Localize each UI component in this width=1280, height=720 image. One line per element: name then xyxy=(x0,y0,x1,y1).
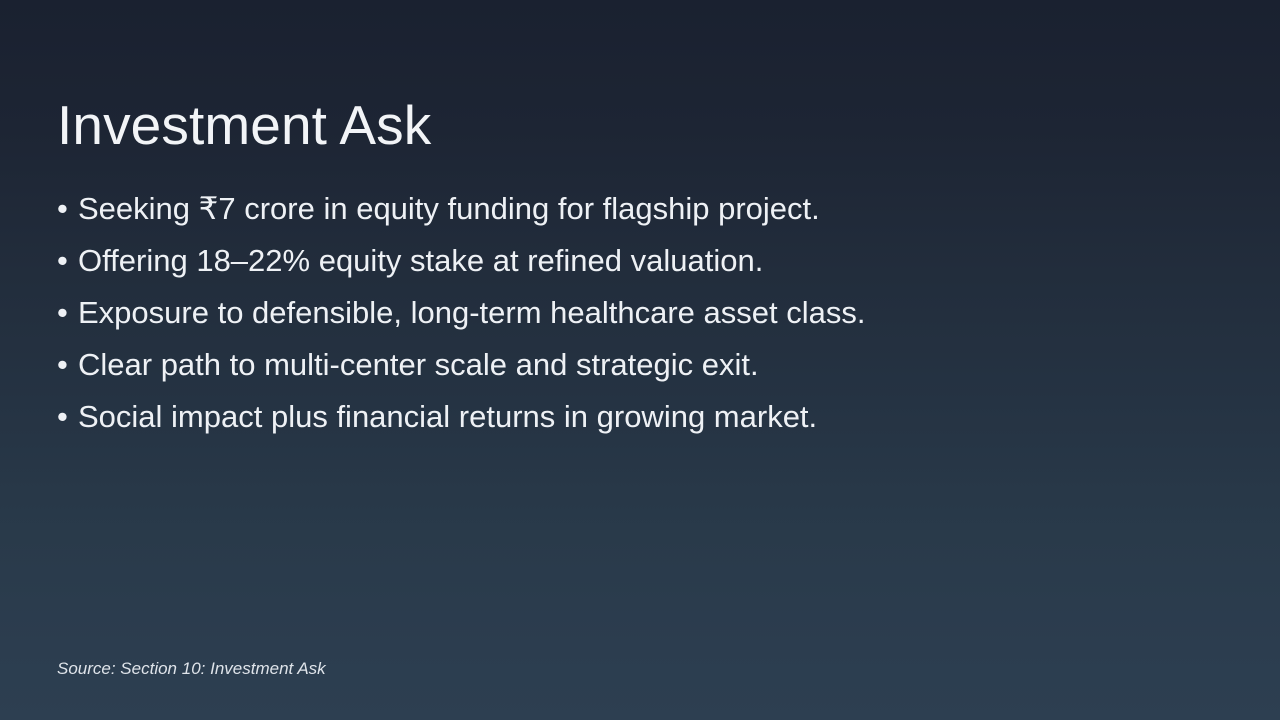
bullet-marker-icon: • xyxy=(57,396,68,437)
bullet-list: • Seeking ₹7 crore in equity funding for… xyxy=(57,188,1197,448)
list-item: • Clear path to multi-center scale and s… xyxy=(57,344,1197,396)
bullet-marker-icon: • xyxy=(57,240,68,281)
list-item-label: Seeking ₹7 crore in equity funding for f… xyxy=(78,191,820,226)
bullet-marker-icon: • xyxy=(57,292,68,333)
source-footer: Source: Section 10: Investment Ask xyxy=(57,658,326,680)
page-title: Investment Ask xyxy=(57,92,431,158)
list-item-label: Clear path to multi-center scale and str… xyxy=(78,347,759,382)
presentation-slide: Investment Ask • Seeking ₹7 crore in equ… xyxy=(0,0,1280,720)
list-item-label: Exposure to defensible, long-term health… xyxy=(78,295,865,330)
bullet-marker-icon: • xyxy=(57,344,68,385)
list-item: • Social impact plus financial returns i… xyxy=(57,396,1197,448)
list-item: • Exposure to defensible, long-term heal… xyxy=(57,292,1197,344)
list-item: • Offering 18–22% equity stake at refine… xyxy=(57,240,1197,292)
list-item: • Seeking ₹7 crore in equity funding for… xyxy=(57,188,1197,240)
list-item-label: Social impact plus financial returns in … xyxy=(78,399,817,434)
bullet-marker-icon: • xyxy=(57,188,68,229)
list-item-label: Offering 18–22% equity stake at refined … xyxy=(78,243,763,278)
